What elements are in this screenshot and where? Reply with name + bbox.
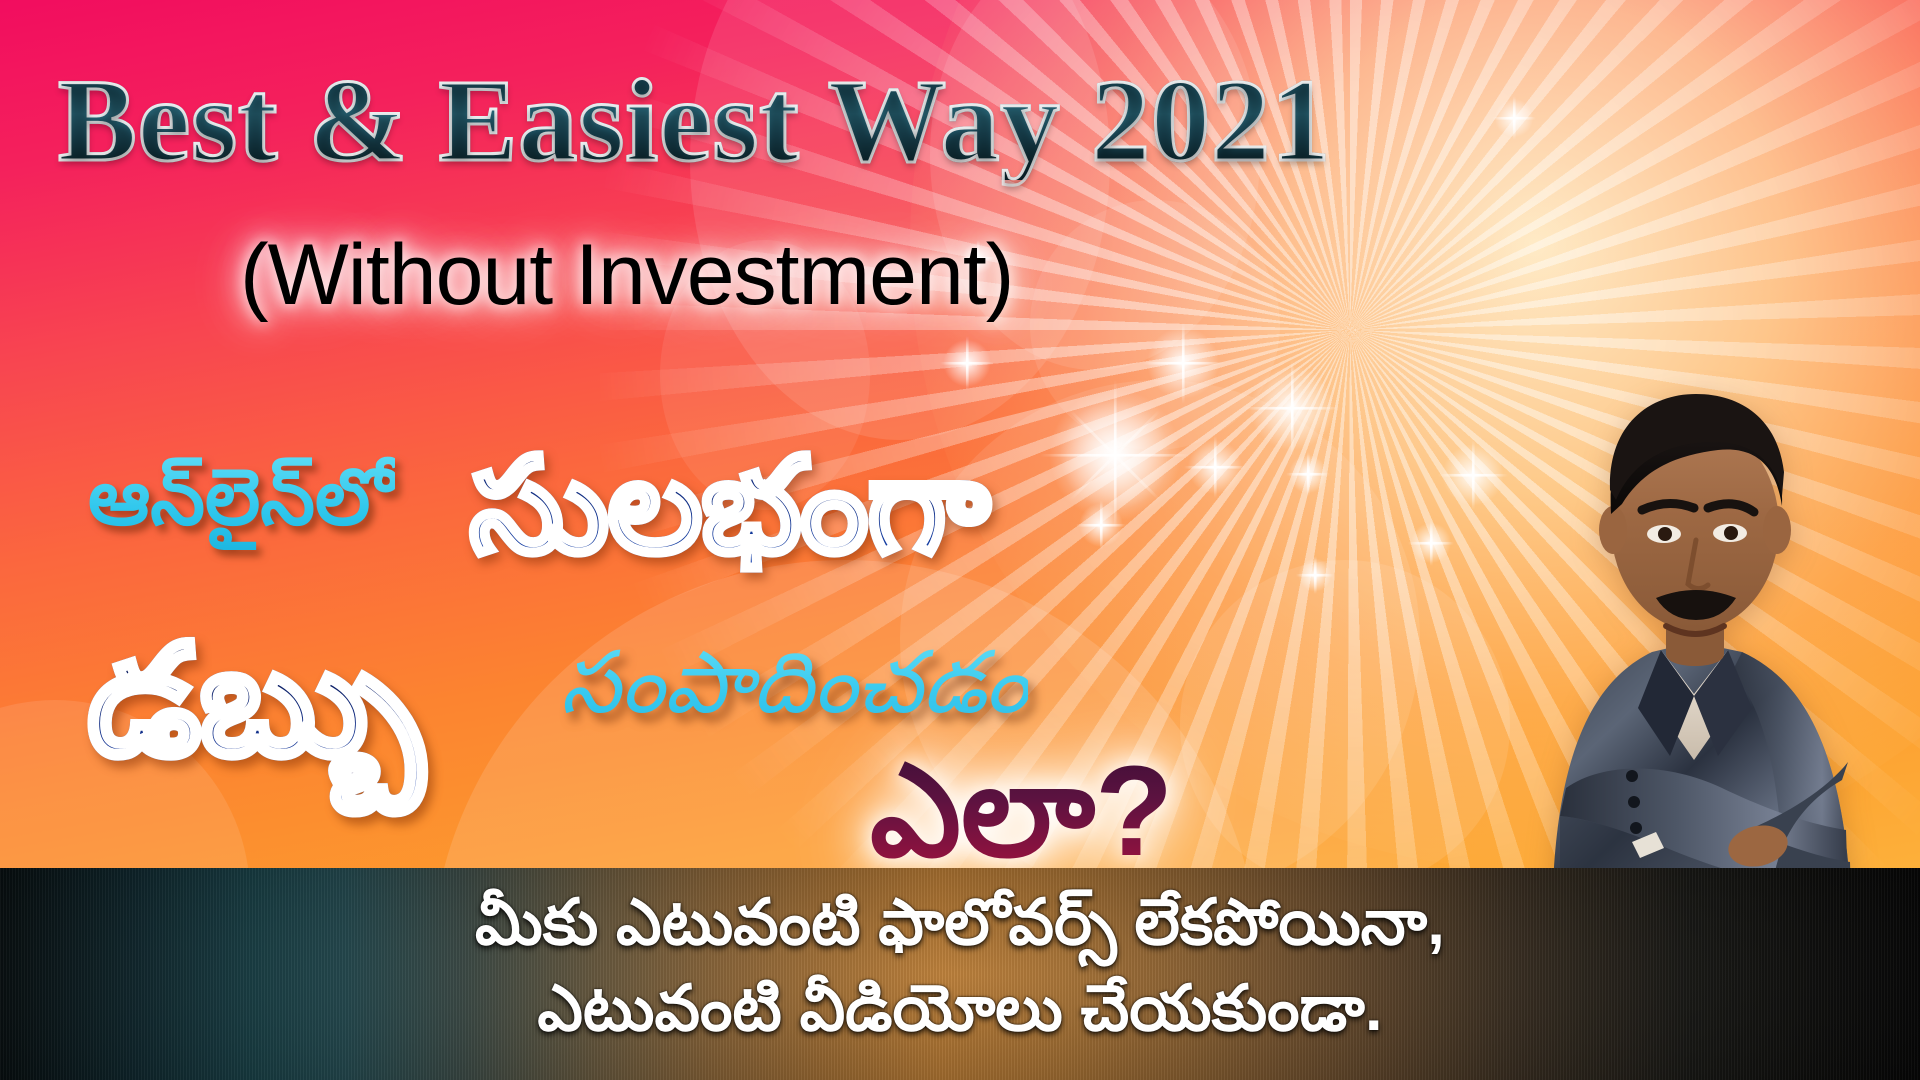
telugu-money-text: డబ్బు	[88, 614, 423, 827]
headline-title: Best & Easiest Way 2021	[58, 62, 1538, 180]
telugu-earning-text: సంపాదించడం	[560, 634, 1028, 754]
telugu-easily-text: సులభంగా	[470, 430, 989, 615]
bottom-caption-bar: మీకు ఎటువంటి ఫాలోవర్స్ లేకపోయినా, ఎటువంట…	[0, 868, 1920, 1080]
caption-line-2: ఎటువంటి వీడియోలు చేయకుండా.	[0, 976, 1920, 1040]
presenter-photo	[1456, 290, 1886, 930]
youtube-thumbnail: Best & Easiest Way 2021 Best & Easiest W…	[0, 0, 1920, 1080]
headline-subtitle: (Without Investment)	[240, 232, 1420, 318]
telugu-online-text: ఆన్‌లైన్‌లో	[88, 452, 395, 562]
caption-line-1: మీకు ఎటువంటి ఫాలోవర్స్ లేకపోయినా,	[0, 890, 1920, 954]
